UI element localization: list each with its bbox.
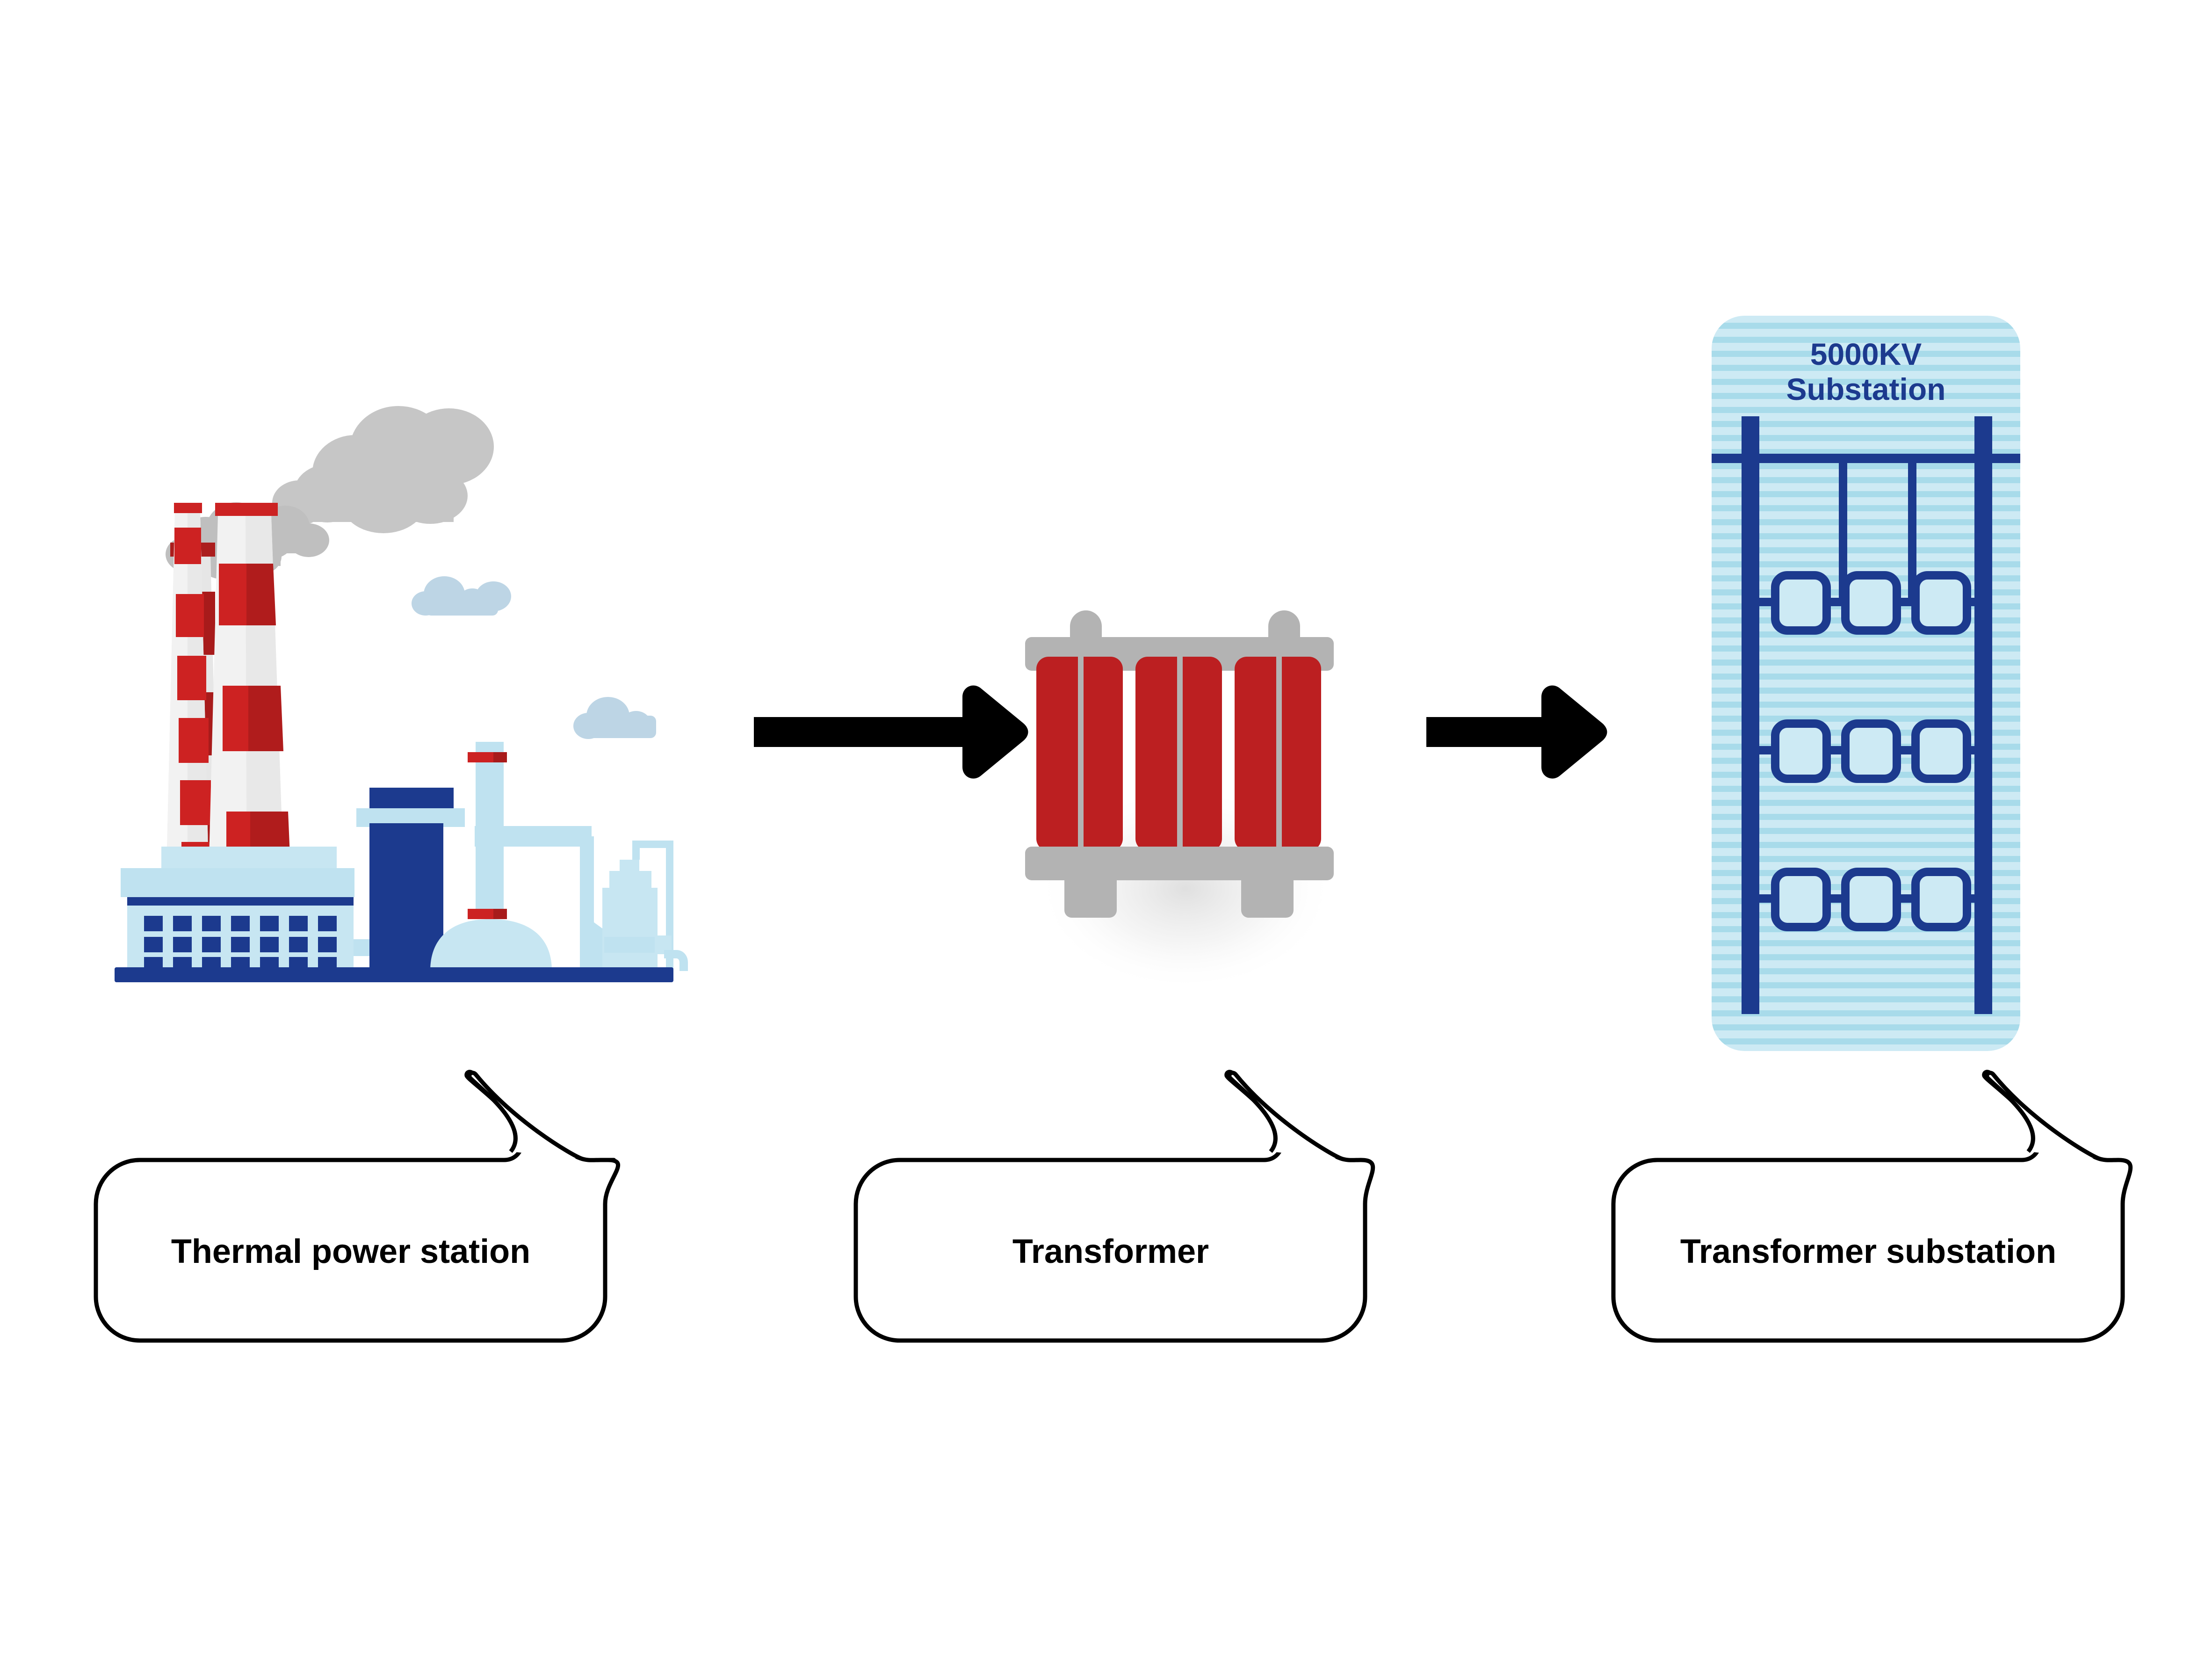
refinery-tower-icon (602, 844, 684, 972)
substation-unit (1916, 872, 1967, 927)
arrow-right-icon (754, 686, 1028, 779)
substation-unit (1916, 724, 1967, 779)
substation-title-line2: Substation (1786, 372, 1946, 406)
callout-transformer-substation[interactable]: Transformer substation (1613, 1072, 2131, 1341)
smoke-plume-large-icon (272, 406, 494, 533)
substation-unit (1775, 872, 1827, 927)
substation-busbar-left (1742, 416, 1759, 1014)
substation-unit (1775, 575, 1827, 631)
substation-unit (1845, 724, 1897, 779)
callout-label: Transformer (1012, 1233, 1209, 1270)
thermal-power-station-illustration (115, 406, 684, 982)
substation-unit (1916, 575, 1967, 631)
callout-transformer[interactable]: Transformer (856, 1072, 1373, 1341)
callout-label: Thermal power station (171, 1233, 530, 1270)
substation-row (1749, 575, 1978, 631)
power-flow-diagram: 5000KV Substation Thermal power station … (0, 0, 2212, 1660)
factory-building-icon (121, 868, 370, 972)
substation-row (1749, 724, 1978, 779)
substation-unit (1845, 872, 1897, 927)
transformer-illustration (1025, 610, 1335, 992)
arrow-right-icon (1426, 686, 1607, 779)
substation-busbar-right (1974, 416, 1992, 1014)
cloud-icon (573, 697, 656, 739)
substation-unit (1845, 575, 1897, 631)
cloud-icon (412, 576, 511, 616)
diagram-canvas: 5000KV Substation Thermal power station … (0, 0, 2212, 1660)
callout-thermal-power-station[interactable]: Thermal power station (96, 1072, 618, 1341)
substation-row (1749, 872, 1978, 927)
callout-label: Transformer substation (1680, 1233, 2056, 1270)
transformer-substation-illustration: 5000KV Substation (1712, 316, 2020, 1051)
refinery-column-icon (430, 742, 606, 971)
ground-line (115, 967, 673, 982)
substation-unit (1775, 724, 1827, 779)
substation-feeder-line (1712, 454, 2020, 463)
substation-title-line1: 5000KV (1810, 337, 1922, 371)
transformer-coils (1036, 657, 1321, 851)
